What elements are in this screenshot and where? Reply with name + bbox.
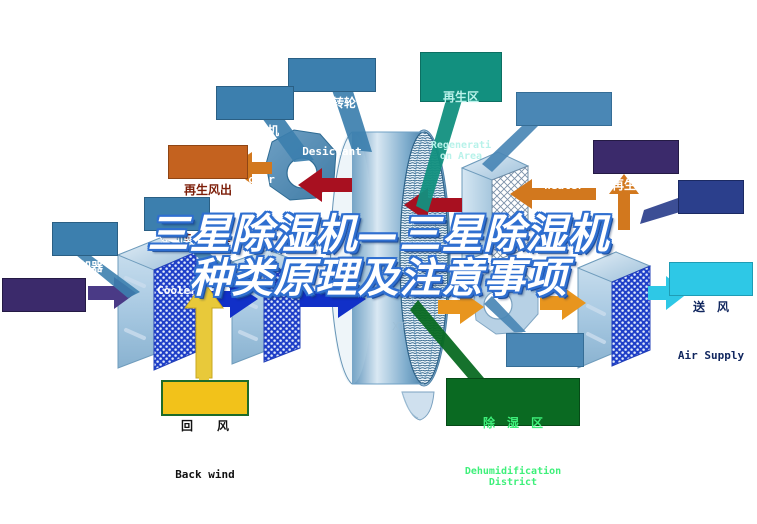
- label-desiccant-wheel: 除湿转轮 Desiccant: [288, 58, 376, 92]
- diagram-canvas: XT: [0, 0, 757, 488]
- label-back-wind: 回 风 Back wind: [161, 380, 249, 416]
- label-regeneration-blower-cn: 再生风机: [217, 125, 293, 138]
- label-regeneration-heater: 再生加热器 heater: [516, 92, 612, 126]
- label-cooler-left-upper-en: Cooler: [145, 285, 209, 297]
- label-air-supply-cn: 送 风: [670, 301, 752, 314]
- label-cooler-left-lower: 冷却器 Cooler: [52, 222, 118, 256]
- svg-text:XT: XT: [392, 320, 406, 333]
- label-back-wind-cn: 回 风: [163, 420, 247, 433]
- label-cooler-left-lower-cn: 冷却器: [53, 261, 117, 274]
- label-desiccant-wheel-cn: 除湿转轮: [289, 97, 375, 110]
- label-air-supply-en: Air Supply: [670, 350, 752, 362]
- label-cooler-left-upper-cn: 冷却器: [145, 236, 209, 249]
- label-air-supply: 送 风 Air Supply: [669, 262, 753, 296]
- label-fresh-air-in-en: Fresh Air: [3, 366, 85, 378]
- label-cooler-left-upper: 冷却器 Cooler: [144, 197, 210, 231]
- label-regeneration-fresh-air-in-en: Fresh Air: [594, 228, 678, 240]
- label-cooler-right: 冷却器 Cooler: [678, 180, 744, 214]
- drain-pan: [402, 392, 434, 420]
- label-dehumidification-blower: 除湿风机 Blower: [506, 333, 584, 367]
- label-cooler-right-cn: 冷却器: [679, 219, 743, 232]
- label-fresh-air-in: 新 风 Fresh Air: [2, 278, 86, 312]
- label-back-wind-en: Back wind: [163, 469, 247, 481]
- label-regeneration-area-cn: 再生区: [421, 91, 501, 104]
- label-dehumidification-district-cn: 除 湿 区: [447, 417, 579, 430]
- label-dehumidification-district-en: Dehumidification District: [447, 466, 579, 488]
- label-regeneration-fresh-air-in: 再生风进 Fresh Air: [593, 140, 679, 174]
- label-regeneration-blower: 再生风机 Blower: [216, 86, 294, 120]
- label-exhaust-cn: 再生风出: [169, 184, 247, 197]
- label-dehumidification-district: 除 湿 区 Dehumidification District: [446, 378, 580, 426]
- label-regeneration-area: 再生区 Regenerati on Area: [420, 52, 502, 102]
- label-desiccant-wheel-en: Desiccant: [289, 146, 375, 158]
- label-regeneration-area-en: Regenerati on Area: [421, 140, 501, 162]
- label-regeneration-fresh-air-in-cn: 再生风进: [594, 179, 678, 192]
- label-exhaust: 再生风出 Exhaust: [168, 145, 248, 179]
- label-fresh-air-in-cn: 新 风: [3, 317, 85, 330]
